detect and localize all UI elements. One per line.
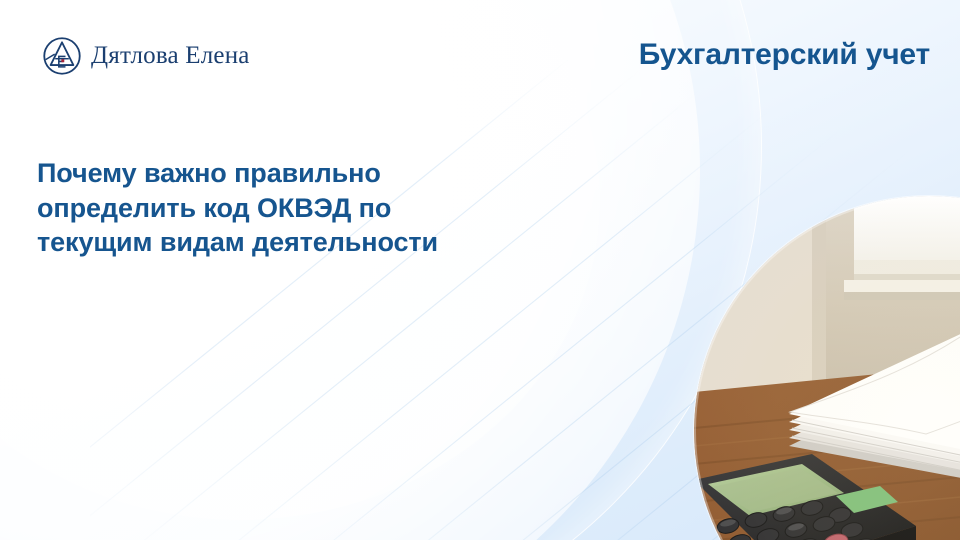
brand-logo[interactable]: Дятлова Елена bbox=[42, 36, 250, 76]
page-title: Почему важно правильно определить код ОК… bbox=[37, 156, 497, 260]
circle-triangle-monogram-icon bbox=[42, 36, 82, 76]
slide-root: Дятлова Елена Бухгалтерский учет Почему … bbox=[0, 0, 960, 540]
brand-name: Дятлова Елена bbox=[91, 42, 250, 70]
section-title: Бухгалтерский учет bbox=[639, 38, 930, 72]
